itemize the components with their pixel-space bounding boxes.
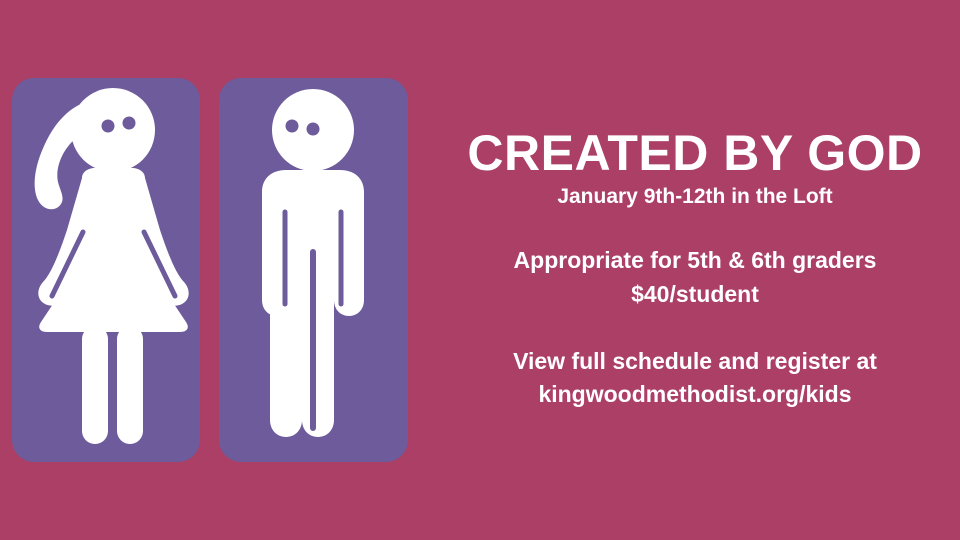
female-eye-left [102, 120, 115, 133]
event-flyer-slide: CREATED BY GOD January 9th-12th in the L… [0, 0, 960, 540]
female-leg-right [117, 326, 143, 444]
female-leg-left [82, 326, 108, 444]
audience-info-block: Appropriate for 5th & 6th graders $40/st… [514, 244, 877, 311]
female-eye-right [123, 117, 136, 130]
event-dates-subtitle: January 9th-12th in the Loft [557, 184, 832, 210]
registration-block: View full schedule and register at kingw… [513, 345, 877, 412]
price-line: $40/student [514, 278, 877, 311]
illustration-area [0, 0, 430, 540]
text-column: CREATED BY GOD January 9th-12th in the L… [430, 0, 960, 540]
male-eye-right [307, 123, 320, 136]
page-title: CREATED BY GOD [467, 128, 922, 178]
male-eye-left [286, 120, 299, 133]
registration-url[interactable]: kingwoodmethodist.org/kids [513, 378, 877, 411]
audience-line: Appropriate for 5th & 6th graders [514, 244, 877, 277]
cta-line: View full schedule and register at [513, 345, 877, 378]
